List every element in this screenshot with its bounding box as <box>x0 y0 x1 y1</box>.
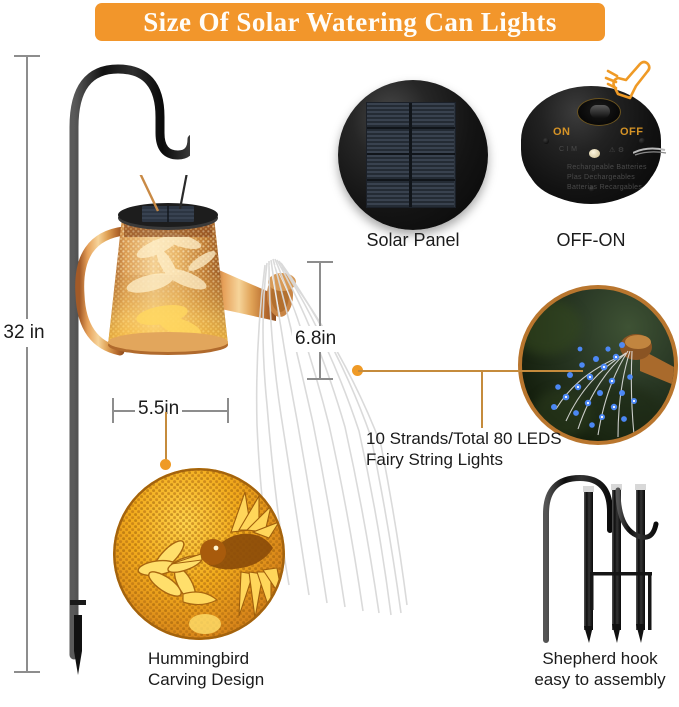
hummingbird-carving-disc <box>113 468 285 640</box>
width-dimension-label: 5.5in <box>135 398 182 420</box>
emboss-line-1: Rechargeable Batteries <box>567 164 647 171</box>
height-dimension-label: 32 in <box>0 319 48 347</box>
carving-caption: Hummingbird Carving Design <box>108 648 308 690</box>
title-banner: Size Of Solar Watering Can Lights <box>95 3 605 41</box>
wire-lead <box>633 146 667 160</box>
carving-callout-dot <box>160 459 171 470</box>
switch-knob[interactable] <box>590 105 610 118</box>
carving-caption-line2: Carving Design <box>148 669 308 690</box>
carving-caption-line1: Hummingbird <box>148 648 308 669</box>
leds-callout-text: 10 Strands/Total 80 LEDS Fairy String Li… <box>366 428 616 470</box>
shepherd-hook-parts <box>540 468 679 643</box>
emboss-line-3: Batterias Recargables <box>567 184 642 191</box>
spray-dimension-line <box>319 262 321 379</box>
page-title: Size Of Solar Watering Can Lights <box>143 7 556 38</box>
switch-on-label: ON <box>553 126 571 138</box>
width-dimension-tick-right <box>227 398 229 423</box>
solar-cell-grid <box>366 102 456 208</box>
led-strands-photo <box>518 285 678 445</box>
width-dimension-tick-left <box>112 398 114 423</box>
spray-dimension-tick-bottom <box>307 378 333 380</box>
hook-caption-line1: Shepherd hook <box>520 648 679 669</box>
leds-callout-leader-vertical <box>481 370 483 428</box>
leds-callout-line1: 10 Strands/Total 80 LEDS <box>366 428 616 449</box>
height-dimension-line <box>26 56 28 673</box>
spray-dimension-tick-top <box>307 261 333 263</box>
screw-dot <box>639 138 645 144</box>
switch-off-label: OFF <box>620 126 644 138</box>
hook-caption-line2: easy to assembly <box>520 669 679 690</box>
hook-caption: Shepherd hook easy to assembly <box>520 648 679 690</box>
emboss-line-2: Plas Dechargeables <box>567 174 635 181</box>
off-on-switch-unit: ON OFF C I M ⚠ ⚙ Rechargeable Batteries … <box>516 78 666 228</box>
solar-panel-icon <box>338 80 488 230</box>
off-on-caption: OFF-ON <box>516 230 666 251</box>
leds-callout-line2: Fairy String Lights <box>366 449 616 470</box>
spray-dimension-label: 6.8in <box>292 326 339 352</box>
carving-callout-leader <box>165 412 167 462</box>
height-dimension-tick-bottom <box>14 671 40 673</box>
led-indicator <box>589 149 600 158</box>
hand-pointer-icon <box>596 54 652 106</box>
height-dimension-tick-top <box>14 55 40 57</box>
solar-panel-caption: Solar Panel <box>338 230 488 251</box>
screw-dot <box>543 138 549 144</box>
leds-callout-leader-horizontal <box>358 370 583 372</box>
